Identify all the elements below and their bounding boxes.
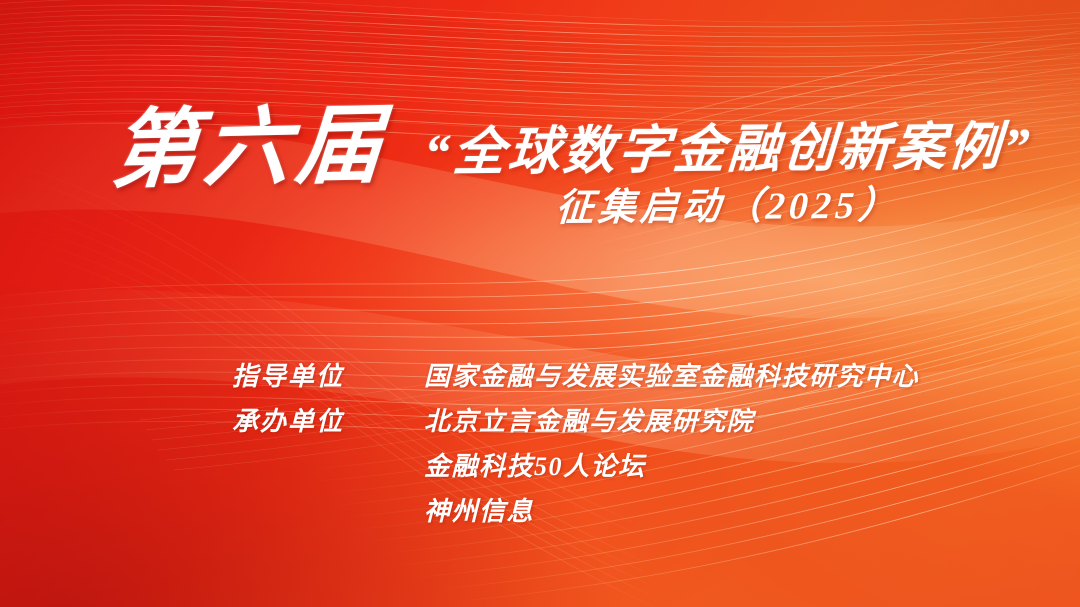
organization-label: 指导单位 <box>232 360 424 394</box>
organization-row: 金融科技50人论坛 <box>232 450 992 495</box>
organization-value: 国家金融与发展实验室金融科技研究中心 <box>424 360 919 394</box>
title-prefix: 第六届 <box>109 99 392 197</box>
poster-content: 第六届 “全球数字金融创新案例” 征集启动（2025） 指导单位 国家金融与发展… <box>0 0 1080 607</box>
headline-block: 第六届 “全球数字金融创新案例” <box>0 104 1080 200</box>
organization-row: 神州信息 <box>232 495 992 540</box>
poster-canvas: 第六届 “全球数字金融创新案例” 征集启动（2025） 指导单位 国家金融与发展… <box>0 0 1080 607</box>
organization-value: 北京立言金融与发展研究院 <box>424 405 754 439</box>
organizations-block: 指导单位 国家金融与发展实验室金融科技研究中心 承办单位 北京立言金融与发展研究… <box>232 360 992 540</box>
organization-row: 承办单位 北京立言金融与发展研究院 <box>232 405 992 450</box>
organization-value: 神州信息 <box>424 495 534 529</box>
organization-label: 承办单位 <box>232 405 424 439</box>
organization-value: 金融科技50人论坛 <box>424 450 646 484</box>
organization-row: 指导单位 国家金融与发展实验室金融科技研究中心 <box>232 360 992 405</box>
subtitle-year: 征集启动（2025） <box>554 182 901 231</box>
title-quoted: “全球数字金融创新案例” <box>422 119 1034 183</box>
